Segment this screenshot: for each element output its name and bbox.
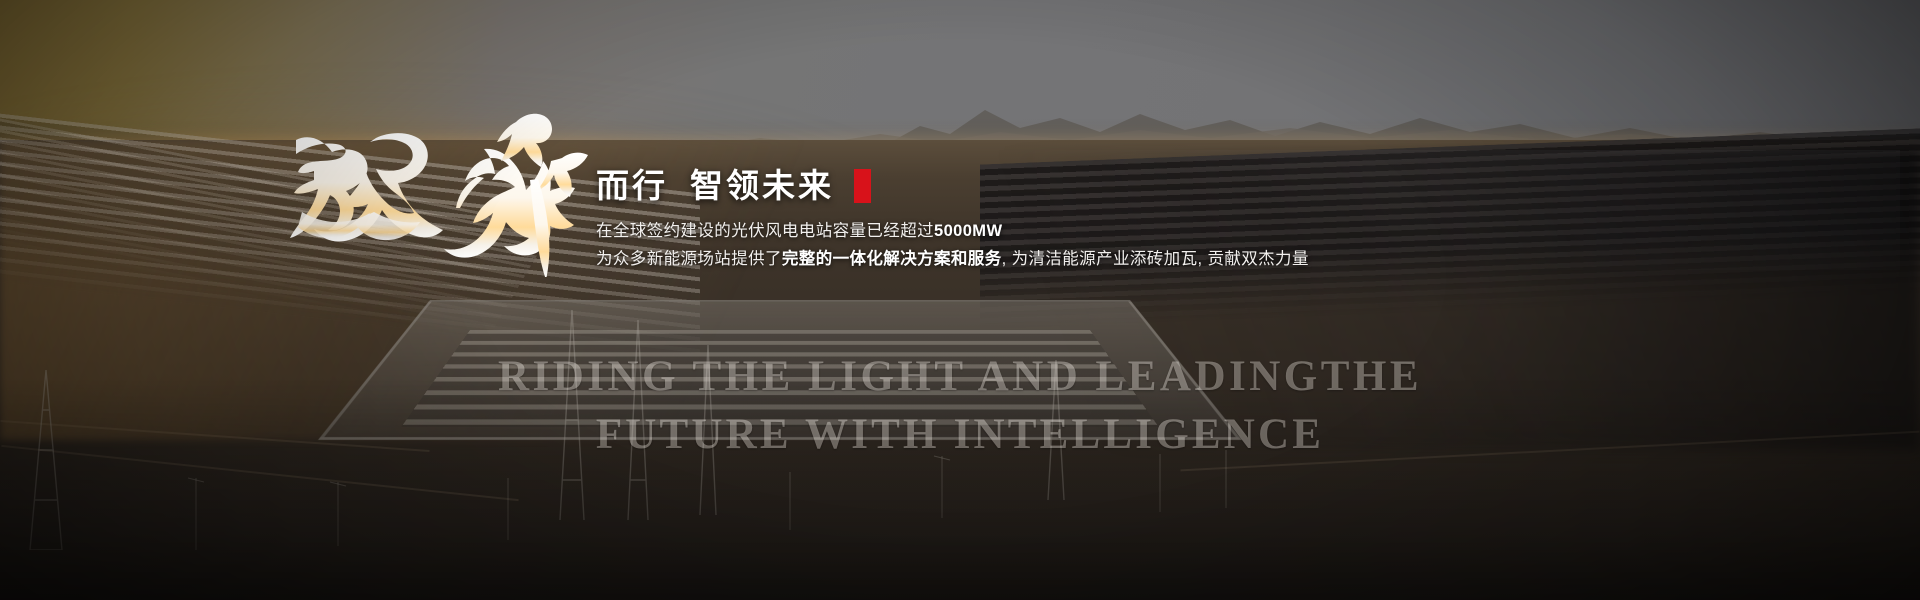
subtitle-line-1: 在全球签约建设的光伏风电电站容量已经超过5000MW: [596, 218, 1356, 244]
subtitle-capacity-value: 5000MW: [934, 222, 1002, 240]
hero-copy: 而行 智领未来 在全球签约建设的光伏风电电站容量已经超过5000MW 为众多新能…: [596, 168, 1356, 272]
subtitle-solution-emphasis: 完整的一体化解决方案和服务: [782, 250, 1002, 268]
hero-banner: 而行 智领未来 在全球签约建设的光伏风电电站容量已经超过5000MW 为众多新能…: [0, 0, 1920, 600]
dirt-access-roads: [0, 380, 1920, 600]
headline-segment-2: 智领未来: [690, 168, 834, 205]
subtitle-line-2-suffix: , 为清洁能源产业添砖加瓦, 贡献双杰力量: [1002, 250, 1309, 268]
headline-segment-1: 而行: [596, 168, 668, 205]
red-accent-block: [854, 169, 871, 203]
subtitle-line-2-prefix: 为众多新能源场站提供了: [596, 250, 782, 268]
subtitle-line-2: 为众多新能源场站提供了完整的一体化解决方案和服务, 为清洁能源产业添砖加瓦, 贡…: [596, 246, 1356, 272]
headline: 而行 智领未来: [596, 168, 1356, 205]
subtitle-line-1-prefix: 在全球签约建设的光伏风电电站容量已经超过: [596, 222, 934, 240]
